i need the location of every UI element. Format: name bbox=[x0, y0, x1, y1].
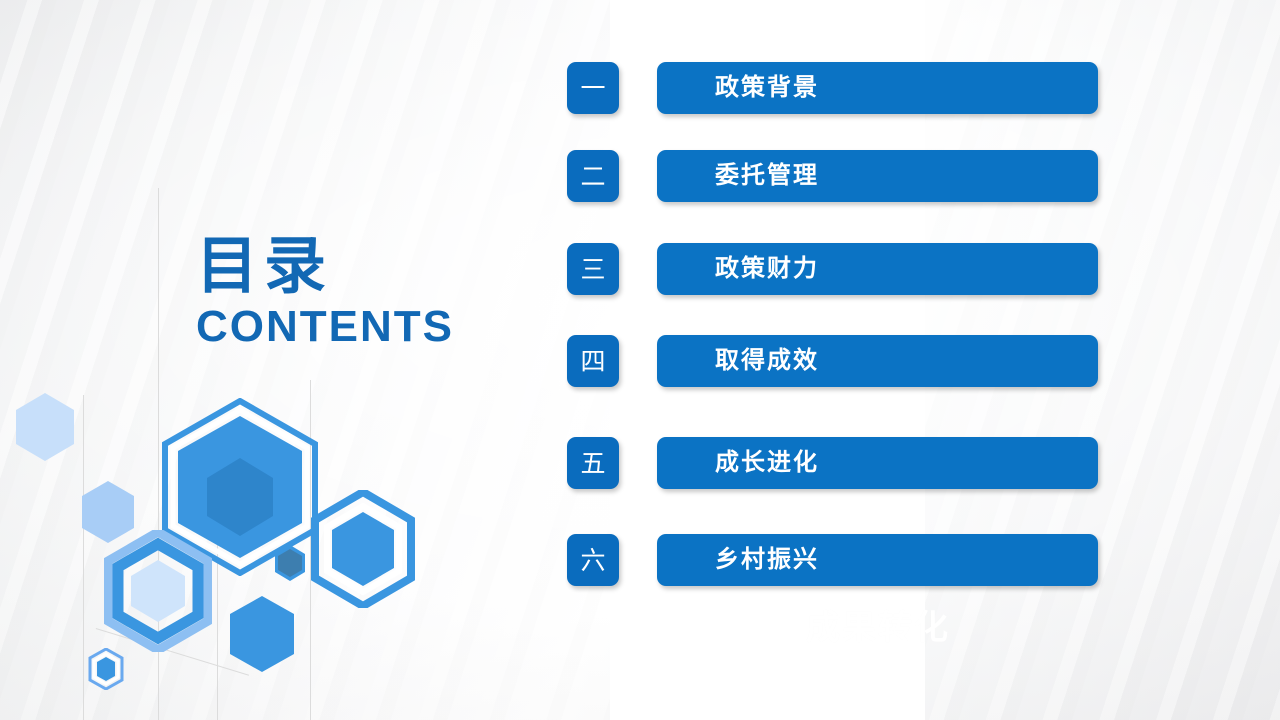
menu-index-badge[interactable]: 五 bbox=[567, 437, 619, 489]
menu-index-label: 三 bbox=[580, 257, 605, 282]
menu-item-label: 取得成效 bbox=[715, 349, 819, 373]
menu-index-label: 四 bbox=[580, 349, 605, 374]
menu-item-label: 政策财力 bbox=[715, 257, 819, 281]
menu-item-button[interactable]: 政策背景 bbox=[657, 62, 1098, 114]
menu-item-button[interactable]: 成长进化 bbox=[657, 437, 1098, 489]
slide-root: 成果转化 bbox=[0, 0, 1280, 720]
menu-index-label: 二 bbox=[580, 164, 605, 189]
menu-index-badge[interactable]: 四 bbox=[567, 335, 619, 387]
menu-index-label: 一 bbox=[580, 76, 605, 101]
menu-item-label: 委托管理 bbox=[715, 164, 819, 188]
menu-index-label: 五 bbox=[580, 451, 605, 476]
menu-index-badge[interactable]: 一 bbox=[567, 62, 619, 114]
menu-item-button[interactable]: 乡村振兴 bbox=[657, 534, 1098, 586]
menu-item-label: 成长进化 bbox=[715, 451, 819, 475]
menu-item-label: 乡村振兴 bbox=[715, 548, 819, 572]
menu-index-badge[interactable]: 六 bbox=[567, 534, 619, 586]
menu-index-badge[interactable]: 三 bbox=[567, 243, 619, 295]
contents-menu: 一 政策背景 二 委托管理 三 政策财力 四 bbox=[0, 0, 1280, 720]
menu-item-button[interactable]: 政策财力 bbox=[657, 243, 1098, 295]
menu-item-label: 政策背景 bbox=[715, 76, 819, 100]
menu-index-label: 六 bbox=[580, 548, 605, 573]
menu-index-badge[interactable]: 二 bbox=[567, 150, 619, 202]
menu-item-button[interactable]: 取得成效 bbox=[657, 335, 1098, 387]
menu-item-button[interactable]: 委托管理 bbox=[657, 150, 1098, 202]
